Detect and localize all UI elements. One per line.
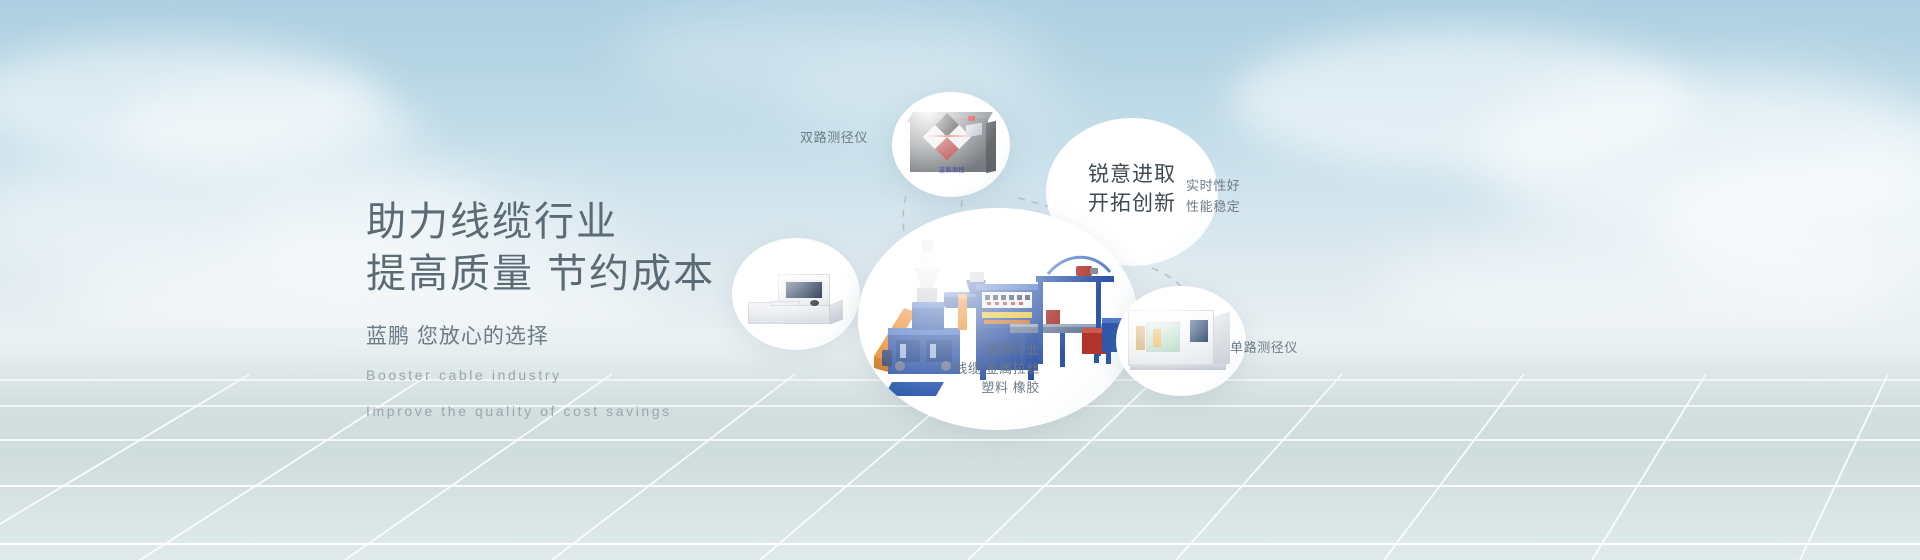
label-industry-line-2: 塑料 橡胶	[930, 378, 1040, 397]
label-industry-line-1: 线缆 金属拉丝	[930, 359, 1040, 378]
hero-banner: 助力线缆行业 提高质量 节约成本 蓝鹏 您放心的选择 Booster cable…	[0, 0, 1920, 560]
dual-channel-device-bubble[interactable]: 蓝鹏测控	[892, 92, 1010, 197]
control-console-icon	[748, 260, 846, 328]
cloud-decoration	[120, 80, 420, 170]
label-kpi-line-2: 性能稳定	[1186, 196, 1240, 217]
cloud-decoration	[0, 40, 380, 160]
dual-channel-diameter-gauge-icon: 蓝鹏测控	[906, 108, 998, 182]
label-kpi-line-1: 实时性好	[1186, 175, 1240, 196]
single-channel-diameter-gauge-icon	[1128, 300, 1236, 378]
label-industry-group: 适用行业 线缆 金属拉丝 塑料 橡胶	[930, 340, 1040, 397]
single-channel-device-bubble[interactable]	[1116, 286, 1246, 396]
label-industry-title: 适用行业	[930, 340, 1040, 359]
label-dual-channel: 双路测径仪	[800, 128, 868, 147]
control-console-bubble[interactable]	[732, 238, 860, 350]
label-single-channel: 单路测径仪	[1230, 338, 1298, 357]
label-kpi-group: 实时性好 性能稳定	[1186, 175, 1240, 217]
product-composition: 锐意进取 开拓创新 蓝鹏测控	[700, 0, 1920, 560]
device-brand-label: 蓝鹏测控	[924, 165, 980, 174]
